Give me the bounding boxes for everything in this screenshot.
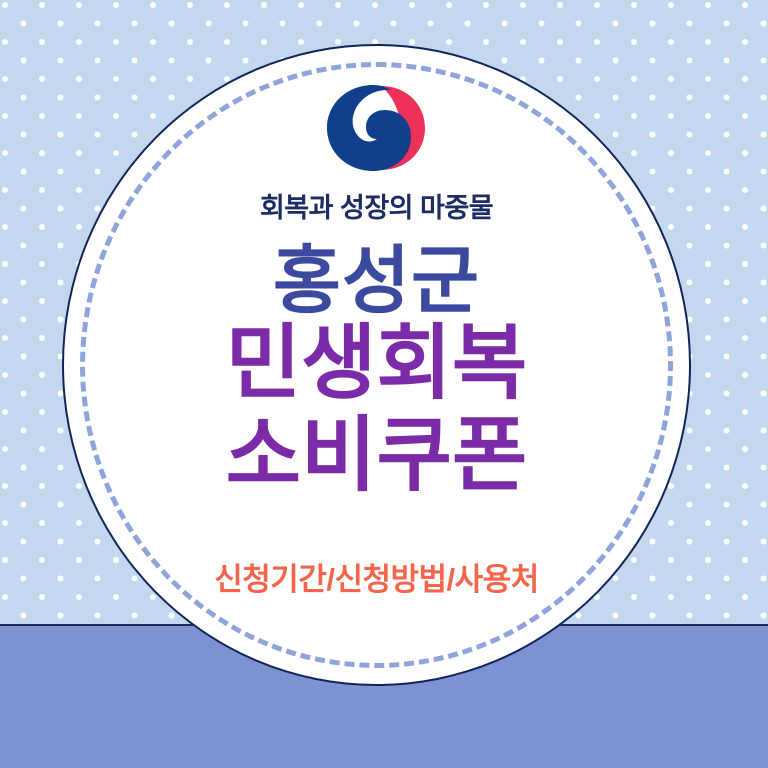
subline-info: 신청기간/신청방법/사용처	[214, 554, 538, 599]
title-line-program: 민생회복	[226, 318, 528, 410]
title-line-region: 홍성군	[273, 243, 480, 318]
tagline: 회복과 성장의 마중물	[260, 186, 493, 225]
poster-canvas: 회복과 성장의 마중물 홍성군 민생회복 소비쿠폰 신청기간/신청방법/사용처	[0, 0, 768, 768]
poster-content: 회복과 성장의 마중물 홍성군 민생회복 소비쿠폰 신청기간/신청방법/사용처	[62, 44, 691, 686]
title-line-coupon: 소비쿠폰	[226, 410, 528, 502]
headline-region: 홍성군 민생회복 소비쿠폰	[226, 243, 528, 502]
korean-government-taegeuk-emblem	[321, 82, 433, 174]
